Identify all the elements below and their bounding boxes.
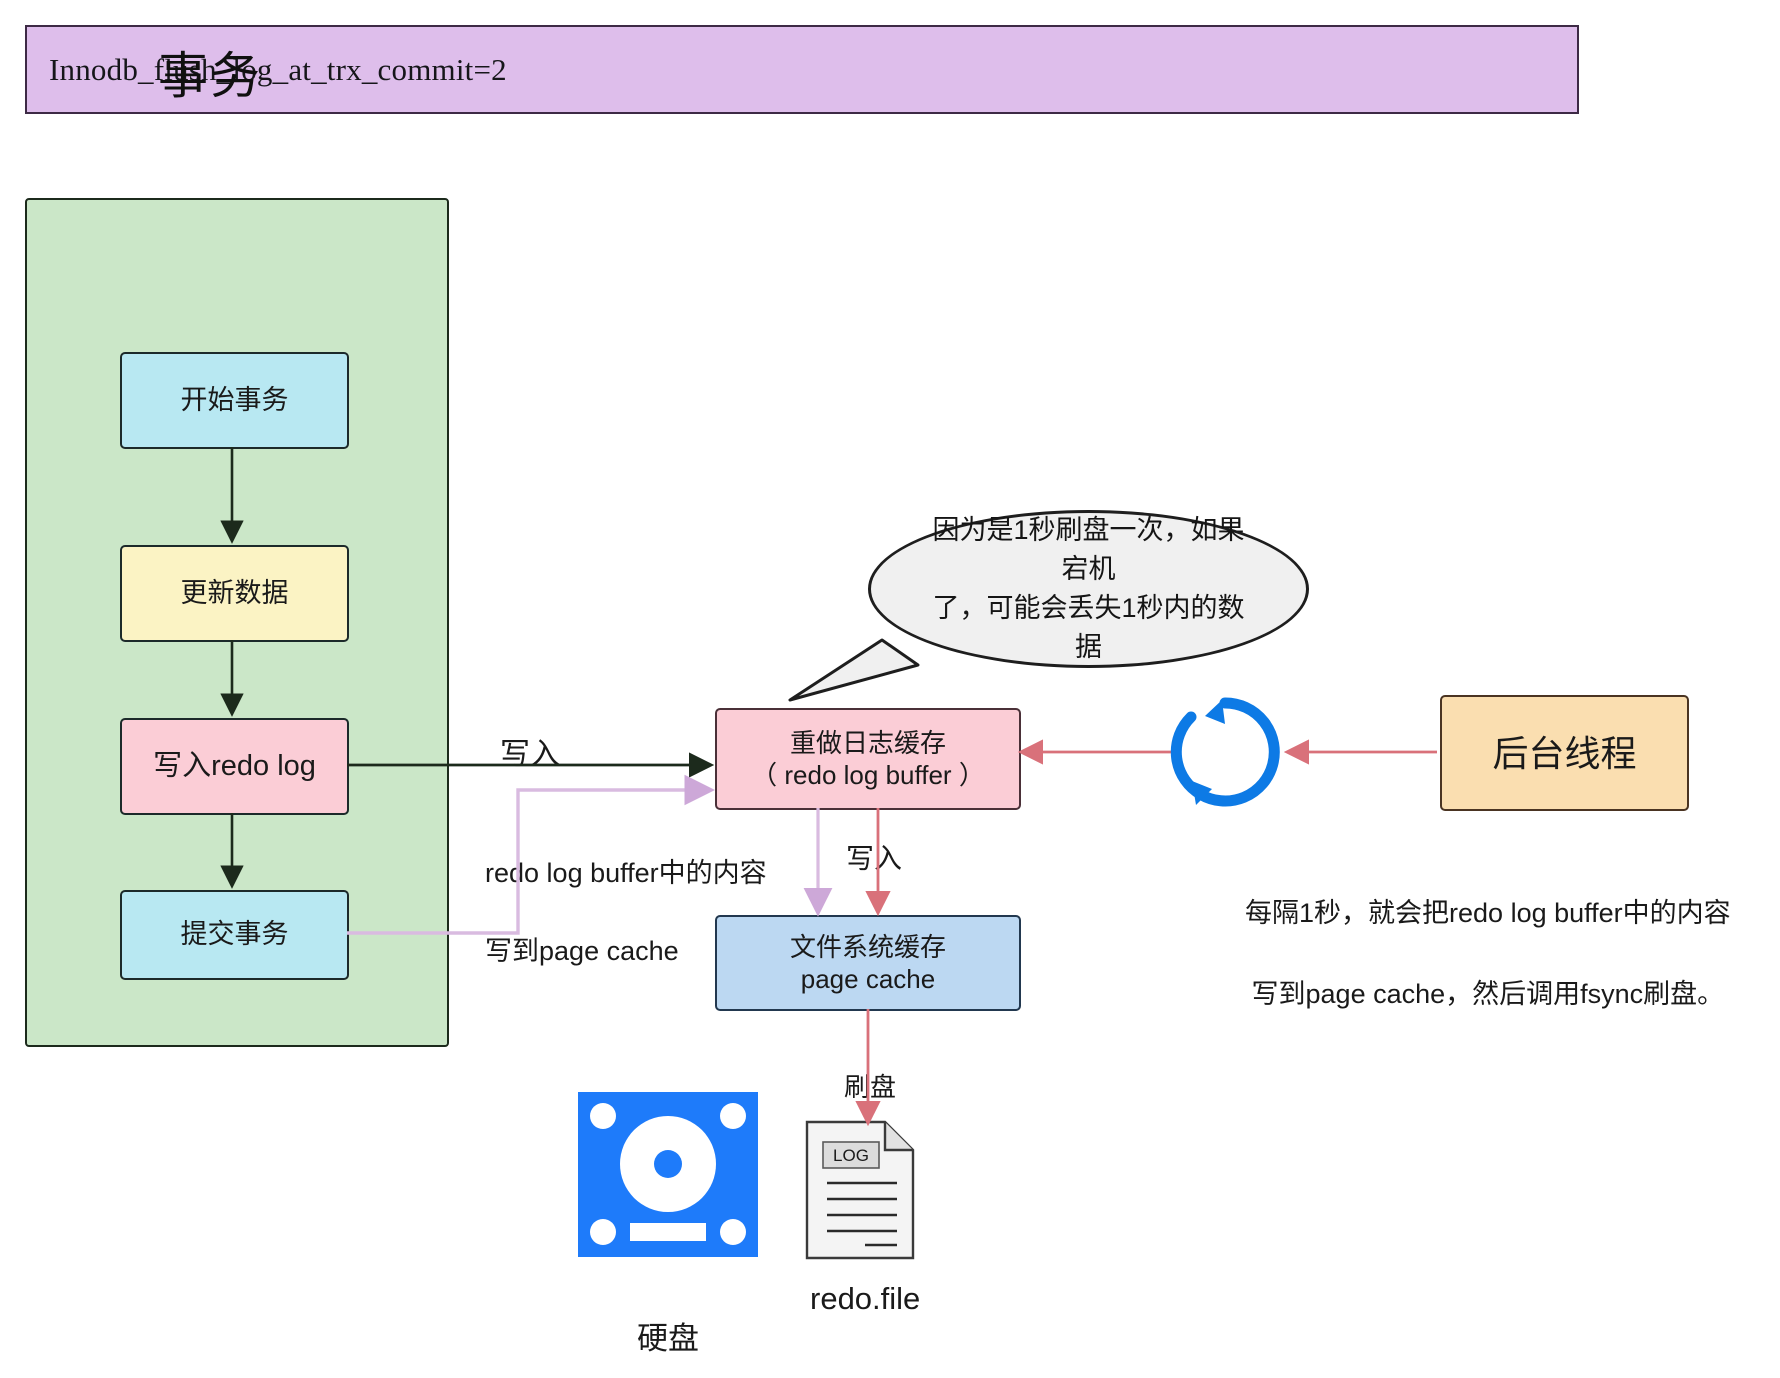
node-background-thread[interactable]: 后台线程 xyxy=(1440,695,1689,811)
refresh-loop-icon xyxy=(1176,700,1274,805)
diagram-canvas: Innodb_flush_log_at_trx_commit=2 事务 开始事务… xyxy=(0,0,1780,1378)
transaction-title: 事务 xyxy=(0,36,420,108)
flow-node-commit-transaction[interactable]: 提交事务 xyxy=(120,890,349,980)
redo-file-icon: LOG xyxy=(805,1120,915,1260)
hard-disk-icon xyxy=(578,1092,758,1257)
node-background-thread-label: 后台线程 xyxy=(1492,731,1636,776)
edge-label-write-to-buffer: 写入 xyxy=(494,735,566,776)
speech-bubble: 因为是1秒刷盘一次，如果宕机 了，可能会丢失1秒内的数据 xyxy=(868,510,1309,668)
speech-bubble-line1: 因为是1秒刷盘一次，如果宕机 xyxy=(932,515,1244,584)
background-thread-note-line1: 每隔1秒，就会把redo log buffer中的内容 xyxy=(1245,898,1731,928)
node-redo-log-buffer[interactable]: 重做日志缓存 （ redo log buffer ） xyxy=(715,708,1021,810)
flow-node-update-data-label: 更新数据 xyxy=(181,577,289,611)
commit-path-note: redo log buffer中的内容 写到page cache xyxy=(455,815,767,1011)
flow-node-write-redo-log-label: 写入redo log xyxy=(153,748,316,784)
speech-bubble-line2: 了，可能会丢失1秒内的数据 xyxy=(932,593,1244,662)
redo-file-label: redo.file xyxy=(810,1278,920,1320)
background-thread-note: 每隔1秒，就会把redo log buffer中的内容 写到page cache… xyxy=(1215,852,1731,1055)
edge-label-write-to-page-cache: 写入 xyxy=(840,840,908,878)
commit-path-note-line2: 写到page cache xyxy=(485,936,679,966)
node-redo-log-buffer-line2: （ redo log buffer ） xyxy=(751,759,985,792)
flow-node-start-transaction-label: 开始事务 xyxy=(181,384,289,418)
speech-bubble-tail xyxy=(790,640,918,700)
node-page-cache-line1: 文件系统缓存 xyxy=(790,931,946,964)
node-redo-log-buffer-line1: 重做日志缓存 xyxy=(751,727,985,760)
hard-disk-label: 硬盘 xyxy=(637,1318,699,1360)
flow-node-write-redo-log[interactable]: 写入redo log xyxy=(120,718,349,815)
file-tag-text: LOG xyxy=(833,1146,869,1165)
flow-node-commit-transaction-label: 提交事务 xyxy=(181,918,289,952)
flow-node-start-transaction[interactable]: 开始事务 xyxy=(120,352,349,449)
background-thread-note-line2: 写到page cache，然后调用fsync刷盘。 xyxy=(1252,979,1725,1009)
flow-node-update-data[interactable]: 更新数据 xyxy=(120,545,349,642)
node-page-cache-line2: page cache xyxy=(790,963,946,996)
commit-path-note-line1: redo log buffer中的内容 xyxy=(485,858,767,888)
edge-label-flush-to-disk: 刷盘 xyxy=(840,1070,900,1105)
